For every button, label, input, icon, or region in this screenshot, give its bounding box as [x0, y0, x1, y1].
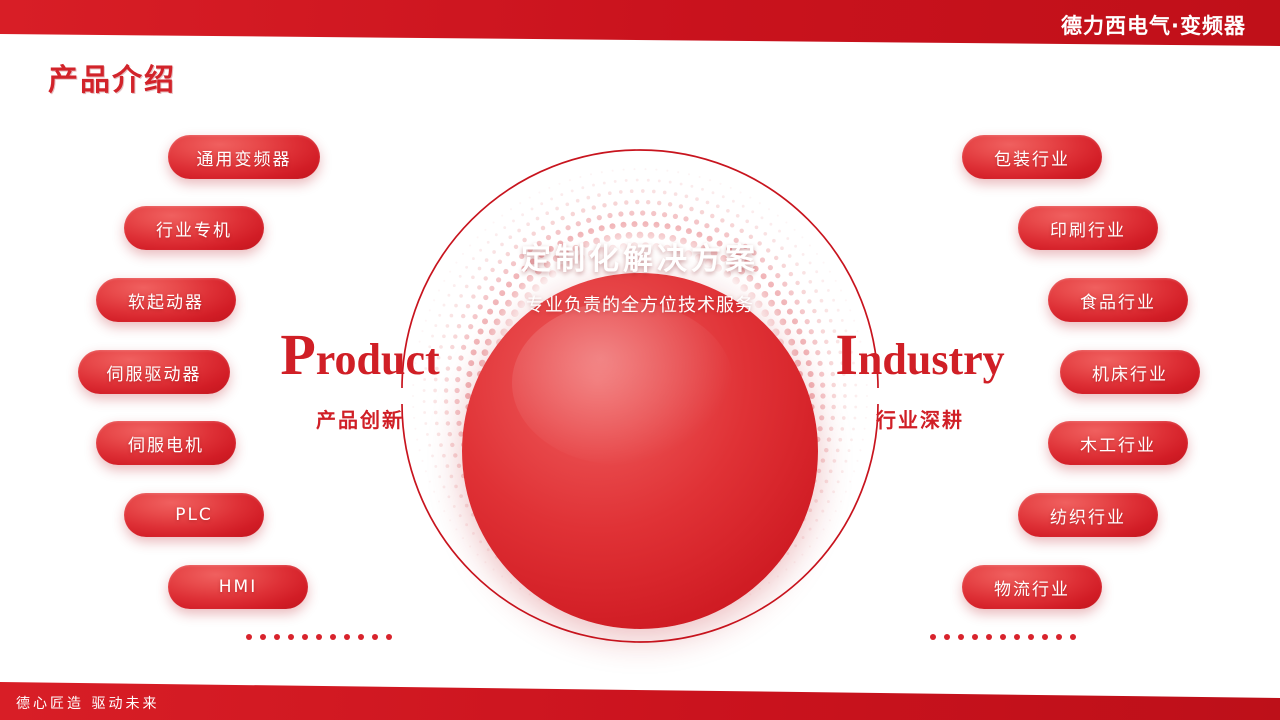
slide-root: 德力西电气·变频器 产品介绍 [0, 0, 1280, 720]
product-pill-6[interactable]: HMI [168, 565, 308, 609]
right-deco-dot [958, 634, 964, 640]
industry-pill-label-2: 食品行业 [1080, 288, 1156, 313]
left-deco-dot [246, 634, 252, 640]
brand-logo-text: 德力西电气·变频器 [1061, 10, 1246, 40]
left-deco-dot [358, 634, 364, 640]
industry-pill-1[interactable]: 印刷行业 [1018, 206, 1158, 250]
right-section-heading: Industry 行业深耕 [825, 326, 1015, 433]
industry-pill-label-3: 机床行业 [1092, 360, 1168, 385]
left-heading-initial: P [280, 322, 315, 387]
product-pill-label-2: 软起动器 [128, 288, 204, 313]
right-heading-initial: I [835, 322, 858, 387]
left-deco-dot [386, 634, 392, 640]
right-deco-dot [972, 634, 978, 640]
page-title: 产品介绍 [48, 55, 176, 99]
industry-pill-3[interactable]: 机床行业 [1060, 350, 1200, 394]
right-deco-dot [1056, 634, 1062, 640]
industry-pill-6[interactable]: 物流行业 [962, 565, 1102, 609]
right-deco-dot [1014, 634, 1020, 640]
product-pill-label-0: 通用变频器 [197, 145, 292, 170]
right-heading-rest: ndustry [858, 335, 1005, 384]
right-deco-dot [1028, 634, 1034, 640]
sphere-highlight [512, 301, 733, 465]
product-pill-0[interactable]: 通用变频器 [168, 135, 320, 179]
left-section-heading: Product 产品创新 [265, 326, 455, 433]
industry-pill-label-1: 印刷行业 [1050, 216, 1126, 241]
product-pill-label-4: 伺服电机 [128, 431, 204, 456]
industry-pill-label-4: 木工行业 [1080, 431, 1156, 456]
left-heading-cn: 产品创新 [265, 404, 455, 433]
industry-pill-4[interactable]: 木工行业 [1048, 421, 1188, 465]
product-pill-label-6: HMI [219, 577, 257, 597]
left-deco-dot [288, 634, 294, 640]
right-deco-dot [944, 634, 950, 640]
right-deco-dot [1070, 634, 1076, 640]
industry-pill-label-0: 包装行业 [994, 145, 1070, 170]
right-deco-dot [1000, 634, 1006, 640]
product-pill-3[interactable]: 伺服驱动器 [78, 350, 230, 394]
right-deco-dot [1042, 634, 1048, 640]
industry-pill-label-5: 纺织行业 [1050, 503, 1126, 528]
left-deco-dot [302, 634, 308, 640]
left-deco-dot [274, 634, 280, 640]
product-pill-2[interactable]: 软起动器 [96, 278, 236, 322]
bottom-red-band [0, 678, 1280, 720]
right-dotted-decoration [930, 634, 1076, 640]
right-deco-dot [930, 634, 936, 640]
left-heading-rest: roduct [316, 335, 440, 384]
left-deco-dot [344, 634, 350, 640]
product-pill-label-1: 行业专机 [156, 216, 232, 241]
central-sphere [462, 273, 818, 629]
product-pill-label-3: 伺服驱动器 [107, 360, 202, 385]
left-deco-dot [330, 634, 336, 640]
industry-pill-label-6: 物流行业 [994, 575, 1070, 600]
left-deco-dot [316, 634, 322, 640]
right-heading-cn: 行业深耕 [825, 404, 1015, 433]
product-pill-1[interactable]: 行业专机 [124, 206, 264, 250]
left-heading-en: Product [265, 326, 455, 384]
right-heading-en: Industry [825, 326, 1015, 384]
product-pill-label-5: PLC [175, 505, 213, 525]
product-pill-4[interactable]: 伺服电机 [96, 421, 236, 465]
footer-slogan: 德心匠造 驱动未来 [16, 693, 159, 713]
industry-pill-2[interactable]: 食品行业 [1048, 278, 1188, 322]
product-pill-5[interactable]: PLC [124, 493, 264, 537]
left-deco-dot [260, 634, 266, 640]
left-dotted-decoration [246, 634, 392, 640]
right-deco-dot [986, 634, 992, 640]
industry-pill-5[interactable]: 纺织行业 [1018, 493, 1158, 537]
industry-pill-0[interactable]: 包装行业 [962, 135, 1102, 179]
left-deco-dot [372, 634, 378, 640]
